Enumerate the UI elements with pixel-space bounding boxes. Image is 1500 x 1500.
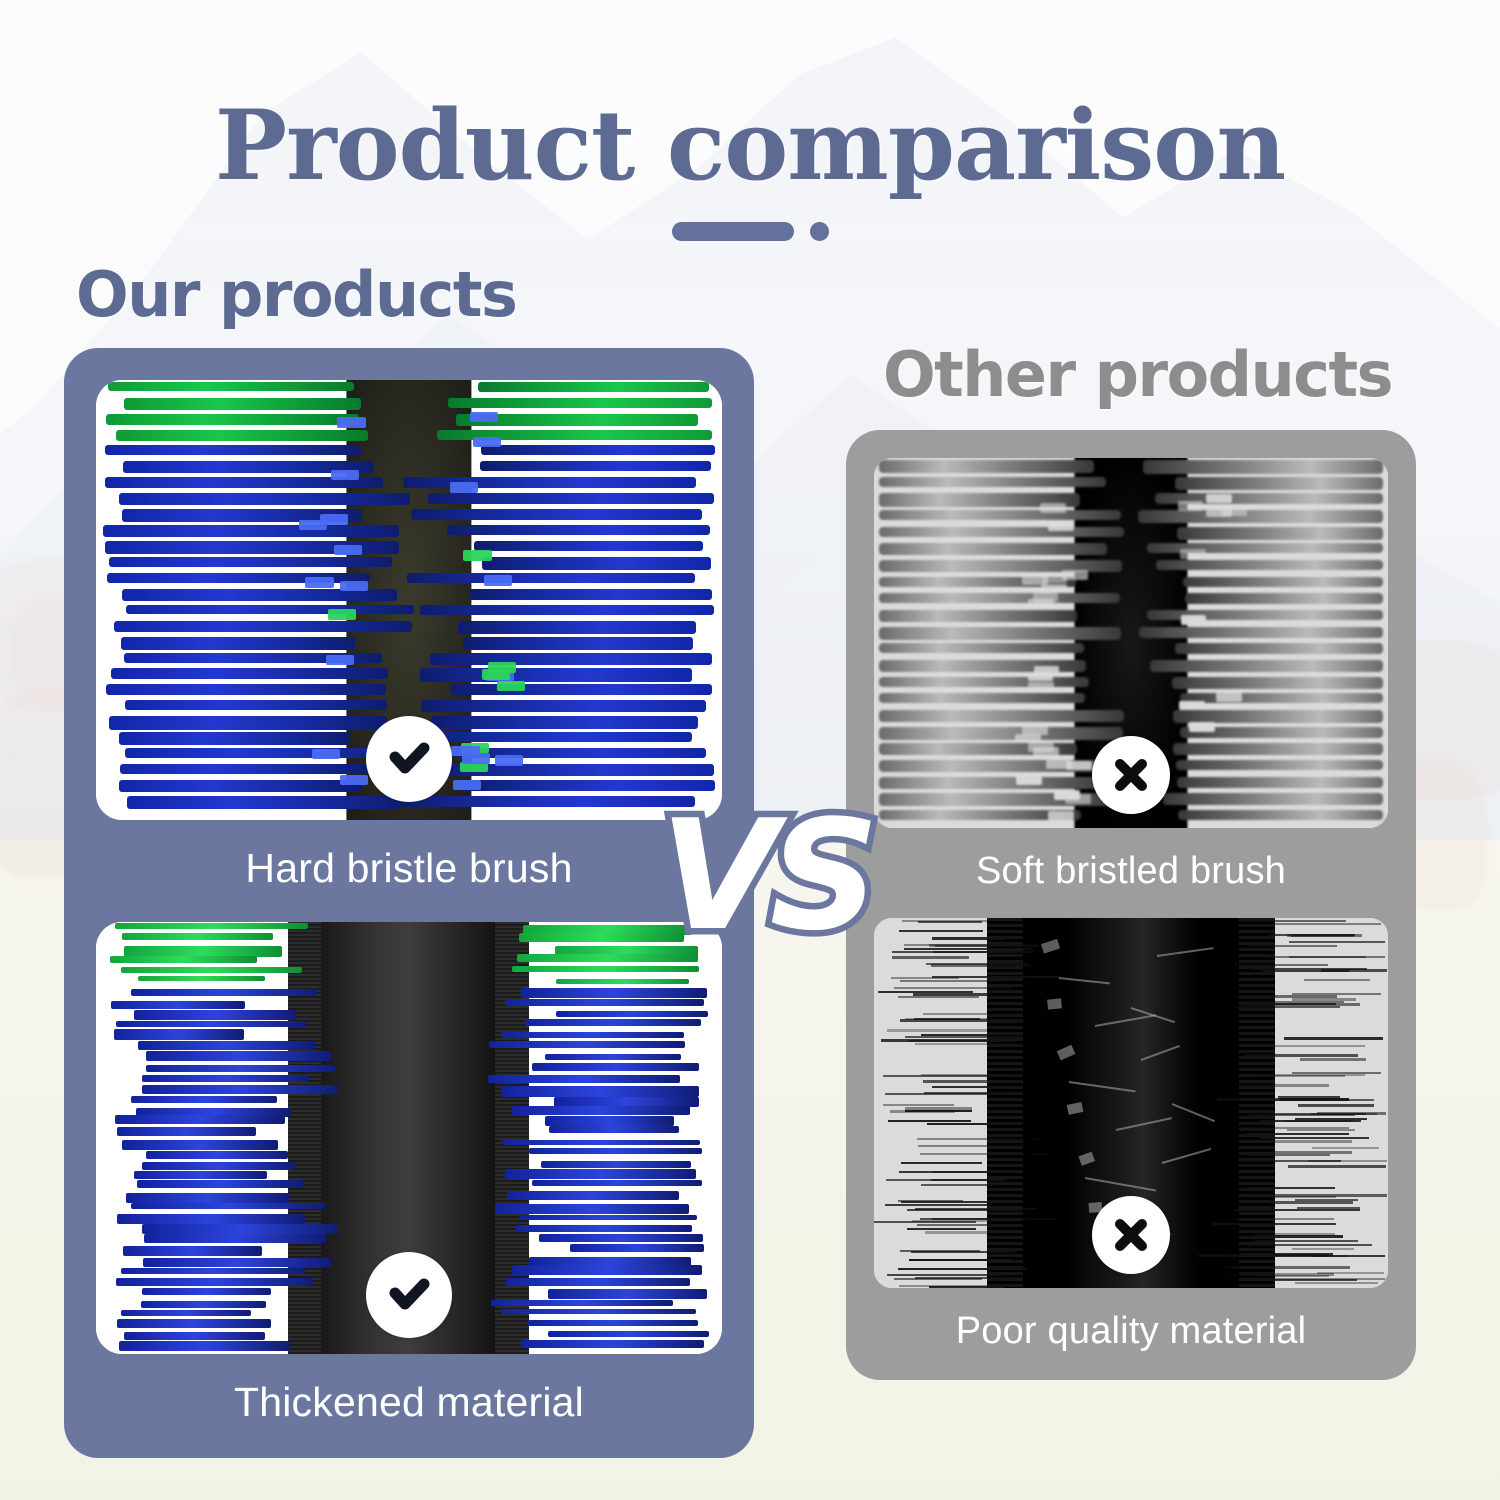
divider-bar bbox=[672, 222, 794, 241]
other-product-item-1: Soft bristled brush bbox=[846, 430, 1416, 914]
page-title: Product comparison bbox=[0, 96, 1500, 197]
our-product-caption-1: Hard bristle brush bbox=[64, 820, 754, 916]
other-products-panel: Soft bristled brush Poor quality mater bbox=[846, 430, 1416, 1380]
our-product-item-1: Hard bristle brush bbox=[64, 348, 754, 916]
our-products-panel: Hard bristle brush Thickened material bbox=[64, 348, 754, 1458]
other-product-caption-2: Poor quality material bbox=[846, 1288, 1416, 1374]
our-product-caption-2: Thickened material bbox=[64, 1354, 754, 1450]
hard-bristle-brush-photo bbox=[96, 380, 722, 820]
title-divider bbox=[0, 222, 1500, 241]
versus-badge: VS bbox=[660, 800, 871, 952]
other-products-heading: Other products bbox=[883, 338, 1392, 411]
divider-dot bbox=[810, 222, 829, 241]
brush-core-edge bbox=[288, 922, 322, 1354]
soft-bristled-brush-photo bbox=[874, 458, 1388, 828]
poor-quality-material-photo bbox=[874, 918, 1388, 1288]
brush-core-edge bbox=[495, 922, 529, 1354]
x-icon bbox=[1092, 1196, 1170, 1274]
our-products-heading: Our products bbox=[76, 258, 516, 331]
x-icon bbox=[1092, 736, 1170, 814]
other-product-item-2: Poor quality material bbox=[846, 914, 1416, 1374]
check-icon bbox=[366, 1252, 452, 1338]
our-product-item-2: Thickened material bbox=[64, 916, 754, 1450]
other-product-caption-1: Soft bristled brush bbox=[846, 828, 1416, 914]
infographic-canvas: Product comparison Our products Other pr… bbox=[0, 0, 1500, 1500]
check-icon bbox=[366, 716, 452, 802]
thickened-material-photo bbox=[96, 922, 722, 1354]
